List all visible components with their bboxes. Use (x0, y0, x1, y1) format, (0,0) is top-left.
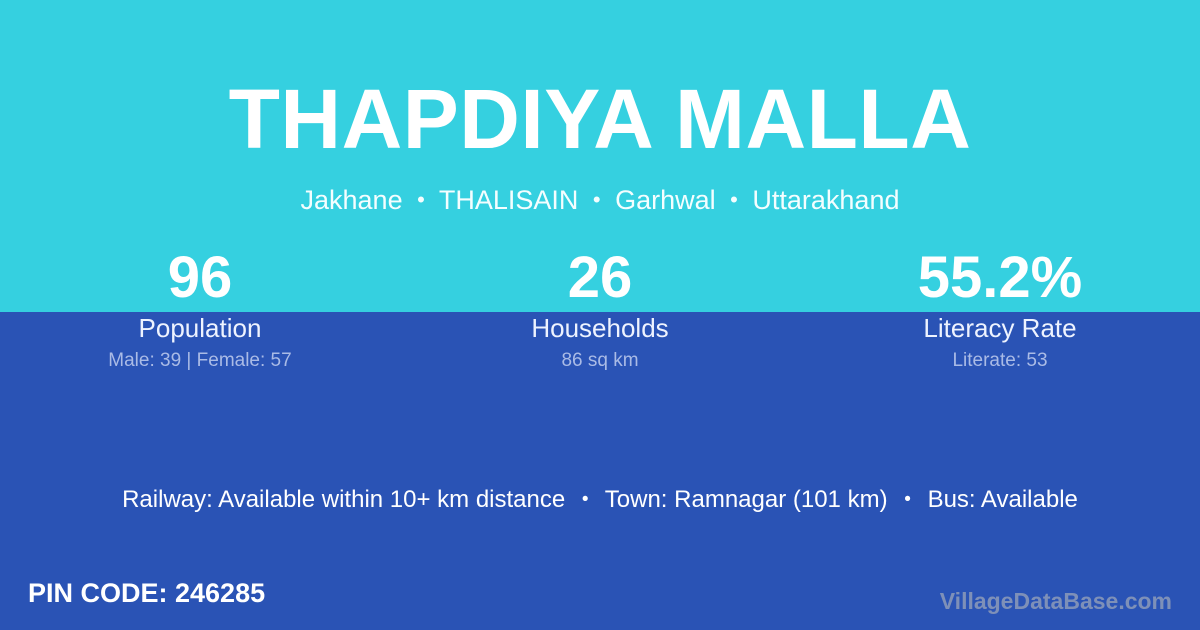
page-title: THAPDIYA MALLA (0, 77, 1200, 161)
location-part-2: Garhwal (615, 185, 716, 215)
stat-label: Literacy Rate (800, 312, 1200, 344)
stat-label: Households (400, 312, 800, 344)
stat-value: 55.2% (800, 246, 1200, 310)
location-part-0: Jakhane (301, 185, 403, 215)
transport-railway: Railway: Available within 10+ km distanc… (122, 486, 565, 513)
transport-info: Railway: Available within 10+ km distanc… (0, 485, 1200, 515)
bullet-separator-icon: • (410, 187, 432, 212)
stats-row: 96 Population Male: 39 | Female: 57 26 H… (0, 246, 1200, 373)
stat-literacy-rate: 55.2% Literacy Rate Literate: 53 (800, 246, 1200, 373)
stat-population: 96 Population Male: 39 | Female: 57 (0, 246, 400, 373)
transport-bus: Bus: Available (928, 486, 1078, 513)
bullet-separator-icon: • (572, 489, 599, 510)
stat-value: 26 (400, 246, 800, 310)
bullet-separator-icon: • (723, 187, 745, 212)
bullet-separator-icon: • (586, 187, 608, 212)
pin-code: PIN CODE: 246285 (28, 576, 265, 610)
stat-sublabel: Literate: 53 (800, 349, 1200, 373)
location-part-1: THALISAIN (439, 185, 579, 215)
stat-households: 26 Households 86 sq km (400, 246, 800, 373)
village-info-card: THAPDIYA MALLA Jakhane • THALISAIN • Gar… (0, 0, 1200, 630)
bullet-separator-icon: • (894, 489, 921, 510)
site-brand: VillageDataBase.com (940, 587, 1172, 615)
stat-value: 96 (0, 246, 400, 310)
stat-sublabel: 86 sq km (400, 349, 800, 373)
location-part-3: Uttarakhand (752, 185, 899, 215)
location-breadcrumb: Jakhane • THALISAIN • Garhwal • Uttarakh… (0, 184, 1200, 216)
transport-town: Town: Ramnagar (101 km) (605, 486, 888, 513)
stat-label: Population (0, 312, 400, 344)
stat-sublabel: Male: 39 | Female: 57 (0, 349, 400, 373)
